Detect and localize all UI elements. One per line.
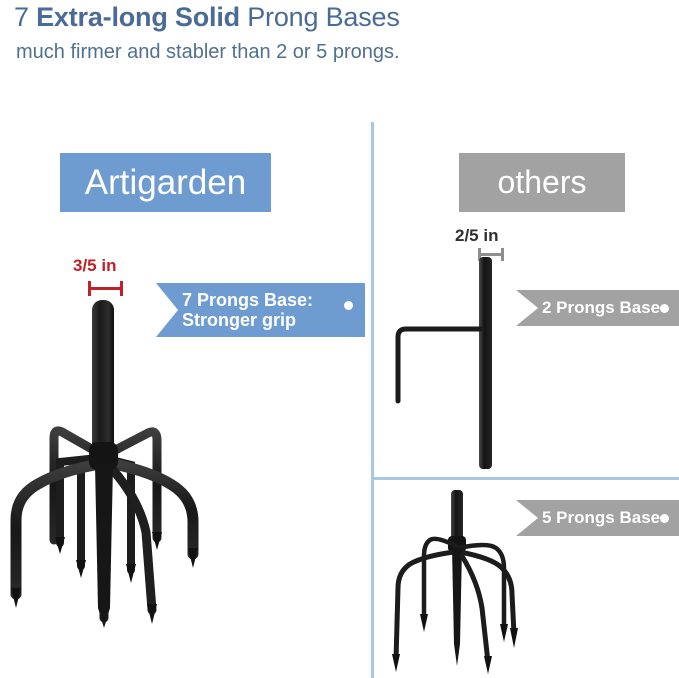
- callout-ribbon-2-prongs: 2 Prongs Base: [516, 290, 679, 326]
- title-emphasis: Extra-long Solid: [36, 2, 240, 32]
- ribbon-bullet-dot: [660, 304, 669, 313]
- vertical-divider: [371, 122, 374, 678]
- two-prong-stake-graphic: [392, 255, 522, 477]
- brand-label-text: Artigarden: [85, 163, 246, 203]
- ribbon-bullet-dot: [344, 301, 353, 310]
- title-suffix: Prong Bases: [240, 2, 400, 32]
- ribbon-label: 2 Prongs Base: [542, 298, 660, 317]
- product-image-2-prong: [392, 255, 522, 477]
- seven-prong-fork-graphic: [0, 288, 222, 663]
- product-image-7-prong: [0, 288, 222, 663]
- horizontal-divider: [371, 477, 679, 480]
- callout-ribbon-7-prongs: 7 Prongs Base: Stronger grip: [156, 283, 365, 337]
- title-prefix: 7: [14, 2, 36, 32]
- brand-label-artigarden: Artigarden: [60, 153, 271, 212]
- ribbon-label: 5 Prongs Base: [542, 508, 660, 527]
- brand-label-others: others: [459, 153, 625, 212]
- ribbon-label: 7 Prongs Base: Stronger grip: [182, 290, 313, 330]
- ribbon-bullet-dot: [660, 514, 669, 523]
- measurement-label: 2/5 in: [455, 226, 498, 246]
- infographic-root: 7 Extra-long Solid Prong Bases much firm…: [0, 0, 679, 678]
- page-title: 7 Extra-long Solid Prong Bases: [14, 2, 400, 33]
- measurement-label: 3/5 in: [73, 256, 116, 276]
- page-subtitle: much firmer and stabler than 2 or 5 pron…: [16, 41, 400, 64]
- brand-label-text: others: [498, 164, 587, 201]
